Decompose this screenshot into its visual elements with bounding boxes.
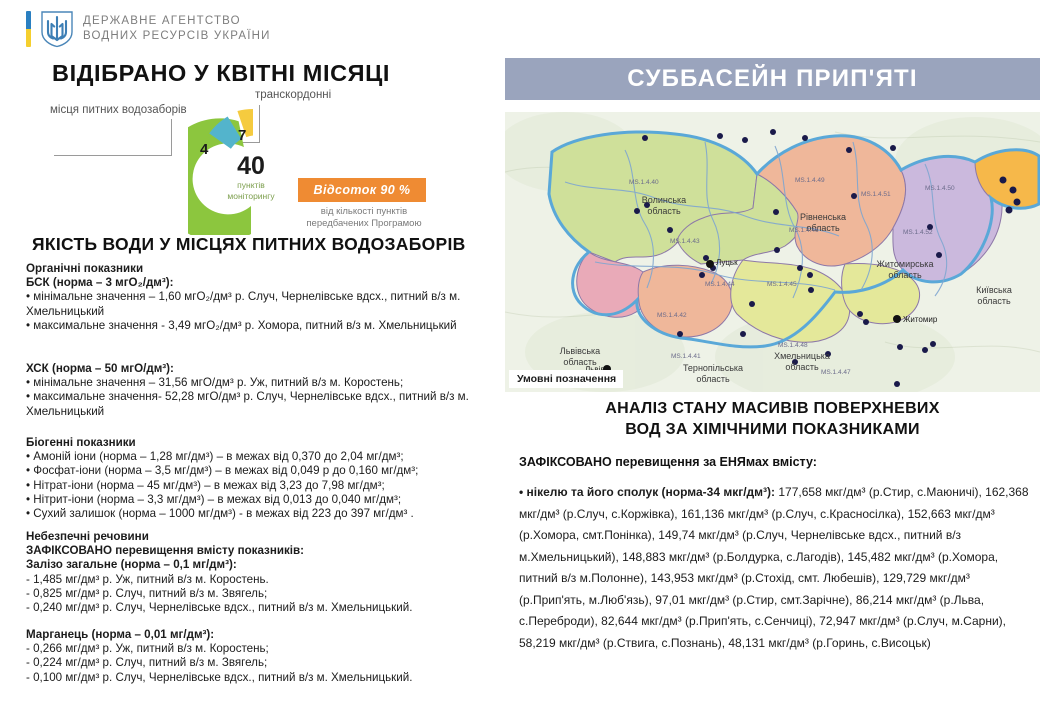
svg-text:MS.1.4.51: MS.1.4.51 — [861, 191, 891, 198]
exceedance-fixed-line: ЗАФІКСОВАНО перевищення за ЕНЯмах вмісту… — [519, 455, 817, 469]
analysis-title: АНАЛІЗ СТАНУ МАСИВІВ ПОВЕРХНЕВИХ ВОД ЗА … — [505, 398, 1040, 440]
iron-bullet-1: - 1,485 мг/дм³ р. Уж, питний в/з м. Коро… — [26, 573, 496, 587]
analysis-title-line1: АНАЛІЗ СТАНУ МАСИВІВ ПОВЕРХНЕВИХ — [505, 398, 1040, 419]
pripyat-sub-basin-map[interactable]: Волинськаобласть Рівненськаобласть Житом… — [505, 112, 1040, 392]
analysis-title-line2: ВОД ЗА ХІМІЧНИМИ ПОКАЗНИКАМИ — [505, 419, 1040, 440]
map-svg: Волинськаобласть Рівненськаобласть Житом… — [505, 112, 1040, 392]
donut-center-total: 40 — [188, 152, 314, 181]
svg-text:область: область — [785, 362, 819, 372]
sub-basin-banner-label: СУББАСЕЙН ПРИП'ЯТІ — [627, 65, 918, 93]
svg-text:MS.1.4.50: MS.1.4.50 — [925, 185, 955, 192]
svg-text:Волинська: Волинська — [642, 195, 686, 205]
iron-bullet-2: - 0,825 мг/дм³ р. Случ, питний в/з м. Зв… — [26, 587, 496, 601]
iron-heading: Залізо загальне (норма – 0,1 мг/дм³): — [26, 558, 496, 572]
svg-text:Рівненська: Рівненська — [800, 212, 846, 222]
biogenic-bullet-1: • Амоній іони (норма – 1,28 мг/дм³) – в … — [26, 450, 496, 464]
manganese-heading: Марганець (норма – 0,01 мг/дм³): — [26, 628, 496, 642]
hsk-subheading: ХСК (норма – 50 мгO/дм³): — [26, 362, 496, 376]
svg-text:MS.1.4.43: MS.1.4.43 — [670, 238, 700, 245]
svg-text:MS.1.4.45: MS.1.4.45 — [767, 281, 797, 288]
percent-badge: Відсоток 90 % — [298, 178, 426, 202]
donut-center-caption-line2: моніторингу — [188, 191, 314, 202]
percent-badge-caption: від кількості пунктів передбачених Прогр… — [290, 206, 438, 230]
svg-text:MS.1.4.48: MS.1.4.48 — [778, 342, 808, 349]
section-manganese: Марганець (норма – 0,01 мг/дм³): - 0,266… — [26, 628, 496, 685]
left-column: ВІДІБРАНО У КВІТНІ МІСЯЦІ місця питних в… — [0, 0, 505, 720]
svg-text:MS.1.4.42: MS.1.4.42 — [657, 312, 687, 319]
donut-value-transboundary: 7 — [238, 127, 246, 144]
manganese-bullet-1: - 0,266 мг/дм³ р. Уж, питний в/з м. Коро… — [26, 642, 496, 656]
hsk-bullet-2: • максимальне значення- 52,28 мгO/дм³ р.… — [26, 390, 496, 418]
svg-text:область: область — [647, 206, 681, 216]
right-column: СУББАСЕЙН ПРИП'ЯТІ — [505, 0, 1040, 720]
svg-text:Тернопільська: Тернопільська — [683, 363, 743, 373]
svg-text:область: область — [888, 270, 922, 280]
nickel-paragraph: • нікелю та його сполук (норма-34 мкг/дм… — [519, 482, 1029, 654]
svg-text:Львівська: Львівська — [560, 346, 600, 356]
svg-text:Київська: Київська — [976, 285, 1012, 295]
svg-text:MS.1.4.41: MS.1.4.41 — [671, 353, 701, 360]
svg-text:MS.1.4.47: MS.1.4.47 — [821, 369, 851, 376]
donut-callout-transboundary: транскордонні — [255, 89, 331, 101]
organic-bullet-2: • максимальне значення - 3,49 мгO₂/дм³ р… — [26, 319, 496, 333]
organic-heading: Органічні показники — [26, 262, 496, 276]
donut-callout-drinking-intakes: місця питних водозаборів — [50, 104, 187, 116]
leader-line-left — [54, 155, 172, 156]
svg-text:MS.1.4.46: MS.1.4.46 — [789, 227, 819, 234]
svg-text:Житомирська: Житомирська — [877, 259, 934, 269]
svg-text:MS.1.4.40: MS.1.4.40 — [629, 179, 659, 186]
biogenic-bullet-3: • Нітрат-іони (норма – 45 мг/дм³) – в ме… — [26, 479, 496, 493]
svg-text:MS.1.4.49: MS.1.4.49 — [795, 177, 825, 184]
section-hsk: ХСК (норма – 50 мгO/дм³): • мінімальне з… — [26, 362, 496, 419]
biogenic-bullet-4: • Нітрит-іони (норма – 3,3 мг/дм³) – в м… — [26, 493, 496, 507]
biogenic-heading: Біогенні показники — [26, 436, 496, 450]
poster-root: ДЕРЖАВНЕ АГЕНТСТВО ВОДНИХ РЕСУРСІВ УКРАЇ… — [0, 0, 1040, 720]
sub-basin-banner: СУББАСЕЙН ПРИП'ЯТІ — [505, 58, 1040, 100]
percent-badge-caption-line2: передбачених Програмою — [290, 218, 438, 230]
biogenic-bullet-2: • Фосфат-іони (норма – 3,5 мг/дм³) – в м… — [26, 464, 496, 478]
section-organic: Органічні показники БСК (норма – 3 мгO₂/… — [26, 262, 496, 333]
water-quality-title: ЯКІСТЬ ВОДИ У МІСЦЯХ ПИТНИХ ВОДОЗАБОРІВ — [32, 234, 466, 255]
svg-text:Хмельницька: Хмельницька — [774, 351, 830, 361]
donut-center-caption-line1: пунктів — [188, 180, 314, 191]
percent-badge-caption-line1: від кількості пунктів — [290, 206, 438, 218]
map-legend-label[interactable]: Умовні позначення — [509, 370, 623, 388]
page-title: ВІДІБРАНО У КВІТНІ МІСЯЦІ — [52, 60, 390, 87]
section-hazardous: Небезпечні речовини ЗАФІКСОВАНО перевище… — [26, 530, 496, 615]
svg-text:MS.1.4.52: MS.1.4.52 — [903, 229, 933, 236]
svg-text:область: область — [696, 374, 730, 384]
manganese-bullet-2: - 0,224 мг/дм³ р. Случ, питний в/з м. Зв… — [26, 656, 496, 670]
percent-badge-label: Відсоток 90 % — [314, 183, 411, 197]
svg-text:Житомир: Житомир — [903, 315, 938, 324]
svg-text:область: область — [977, 296, 1011, 306]
organic-bullet-1: • мінімальне значення – 1,60 мгO₂/дм³ р.… — [26, 290, 496, 318]
svg-text:Луцьк: Луцьк — [716, 258, 738, 267]
leader-line-left-vertical — [171, 119, 172, 156]
biogenic-bullet-5: • Сухий залишок (норма – 1000 мг/дм³) - … — [26, 507, 496, 521]
hazardous-heading: Небезпечні речовини — [26, 530, 496, 544]
hsk-bullet-1: • мінімальне значення – 31,56 мгO/дм³ р.… — [26, 376, 496, 390]
iron-bullet-3: - 0,240 мг/дм³ р. Случ, Чернелівське вдс… — [26, 601, 496, 615]
donut-center-caption: пунктів моніторингу — [188, 180, 314, 202]
organic-subheading: БСК (норма – 3 мгO₂/дм³): — [26, 276, 496, 290]
nickel-values: 177,658 мкг/дм³ (р.Стир, с.Маюничі), 162… — [519, 485, 1029, 650]
hazardous-fixed-line: ЗАФІКСОВАНО перевищення вмісту показникі… — [26, 544, 496, 558]
nickel-label: • нікелю та його сполук (норма-34 мкг/дм… — [519, 485, 775, 499]
section-biogenic: Біогенні показники • Амоній іони (норма … — [26, 436, 496, 521]
manganese-bullet-3: - 0,100 мг/дм³ р. Случ, Чернелівське вдс… — [26, 671, 496, 685]
svg-text:MS.1.4.44: MS.1.4.44 — [705, 281, 735, 288]
